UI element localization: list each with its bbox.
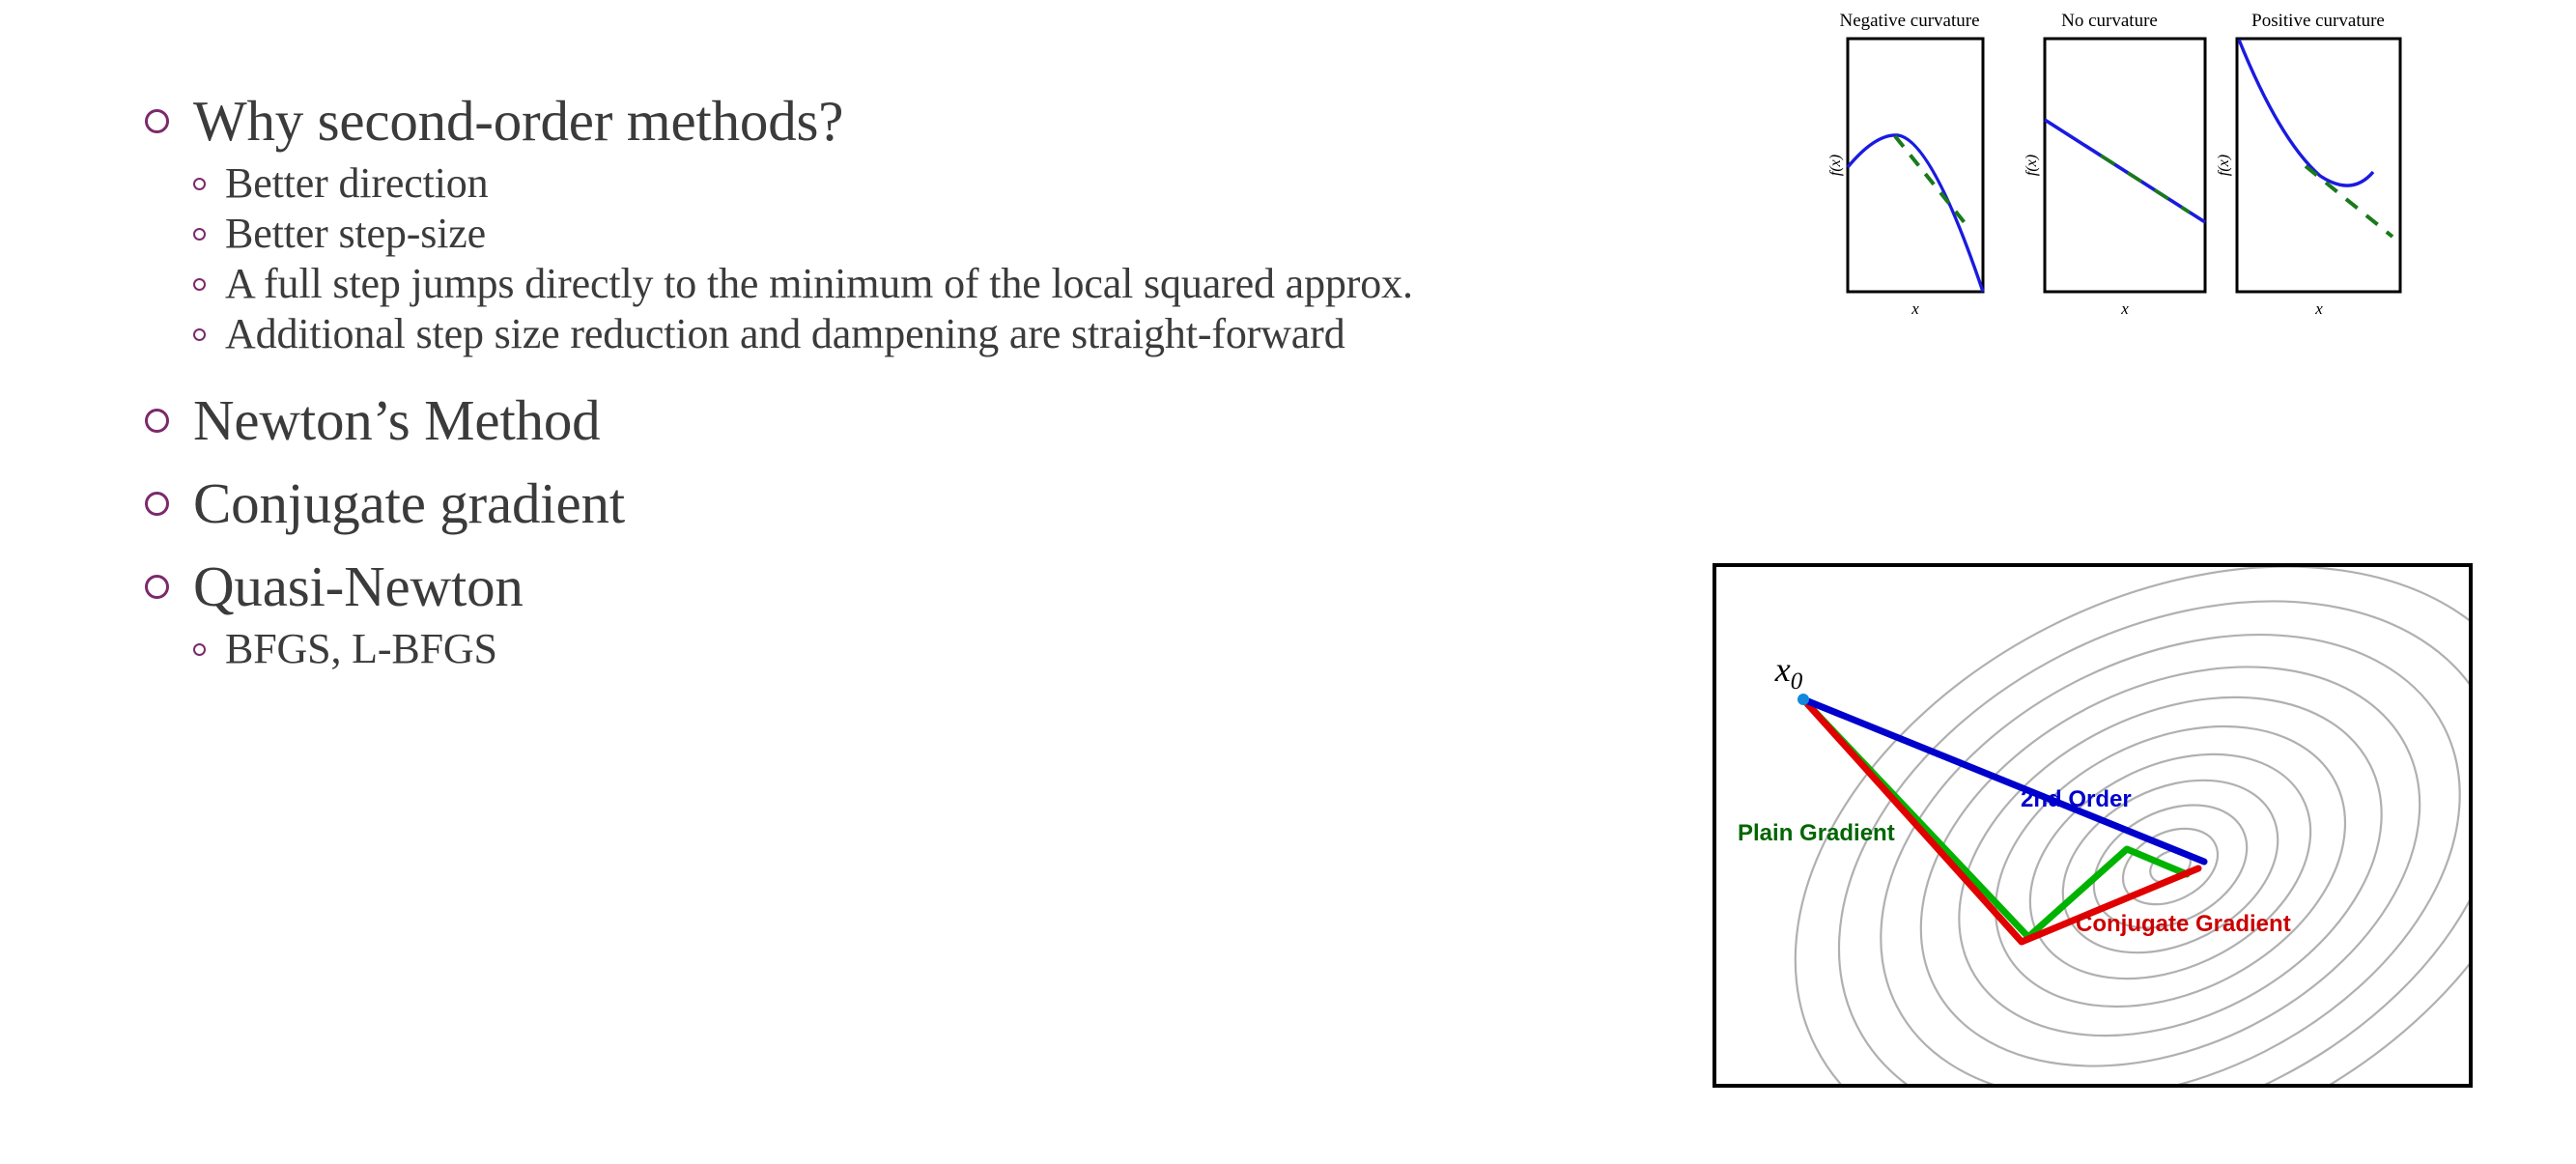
sub-bullet-marker-icon — [193, 209, 225, 259]
axis-label-x: x — [1911, 299, 1919, 318]
sub-bullet-marker-icon — [193, 259, 225, 309]
list-item: BFGS, L-BFGS — [193, 624, 1652, 674]
list-item: Why second-order methods? — [145, 85, 1652, 156]
optimization-paths-figure: x0 2nd Order Plain Gradient Conjugate Gr… — [1713, 563, 2473, 1088]
axis-label-fx: f(x) — [2024, 155, 2040, 176]
list-item-label: Better direction — [225, 158, 489, 209]
bullet-marker-icon — [145, 551, 193, 622]
list-item: Additional step size reduction and dampe… — [193, 309, 1652, 359]
list-item-label: BFGS, L-BFGS — [225, 624, 497, 674]
panel-frame-positive-curvature — [2237, 39, 2400, 292]
sub-bullet-marker-icon — [193, 309, 225, 359]
label-plain-gradient: Plain Gradient — [1738, 820, 1895, 846]
list-item: Conjugate gradient — [145, 468, 1652, 539]
start-point-marker — [1798, 694, 1809, 705]
list-item-label: Quasi-Newton — [193, 551, 524, 622]
bullet-marker-icon — [145, 468, 193, 539]
list-item: A full step jumps directly to the minimu… — [193, 259, 1652, 309]
list-item: Better step-size — [193, 209, 1652, 259]
axis-label-fx: f(x) — [1827, 155, 1844, 176]
bullet-marker-icon — [145, 384, 193, 456]
list-item-label: Newton’s Method — [193, 384, 600, 456]
list-item-label: A full step jumps directly to the minimu… — [225, 259, 1413, 309]
curve-positive-curvature — [2239, 40, 2373, 185]
panel-title-positive-curvature: Positive curvature — [2251, 11, 2385, 31]
panel-title-no-curvature: No curvature — [2061, 11, 2158, 31]
list-item: Better direction — [193, 158, 1652, 209]
list-item-label: Better step-size — [225, 209, 486, 259]
curvature-panels-figure: Negative curvature f(x) x No curvature f… — [1826, 0, 2424, 357]
sub-bullet-marker-icon — [193, 158, 225, 209]
bullet-marker-icon — [145, 85, 193, 156]
list-item-label: Why second-order methods? — [193, 85, 843, 156]
label-second-order: 2nd Order — [2021, 786, 2132, 812]
panel-title-negative-curvature: Negative curvature — [1839, 11, 1979, 31]
axis-label-x: x — [2120, 299, 2129, 318]
bullet-list: Why second-order methods? Better directi… — [145, 85, 1652, 674]
tangent-line-positive-curvature — [2306, 166, 2392, 237]
panel-frame-no-curvature — [2045, 39, 2205, 292]
panel-frame-negative-curvature — [1848, 39, 1983, 292]
start-point-label: x0 — [1774, 650, 1803, 695]
list-item-label: Additional step size reduction and dampe… — [225, 309, 1345, 359]
axis-label-x: x — [2314, 299, 2323, 318]
curve-no-curvature — [2045, 120, 2205, 222]
list-item-label: Conjugate gradient — [193, 468, 625, 539]
sub-bullet-marker-icon — [193, 624, 225, 674]
tangent-line-negative-curvature — [1895, 136, 1967, 225]
list-item: Quasi-Newton — [145, 551, 1652, 622]
slide-canvas: Why second-order methods? Better directi… — [0, 0, 2576, 1164]
list-item: Newton’s Method — [145, 384, 1652, 456]
axis-label-fx: f(x) — [2216, 155, 2232, 176]
label-conjugate-gradient: Conjugate Gradient — [2076, 911, 2291, 937]
